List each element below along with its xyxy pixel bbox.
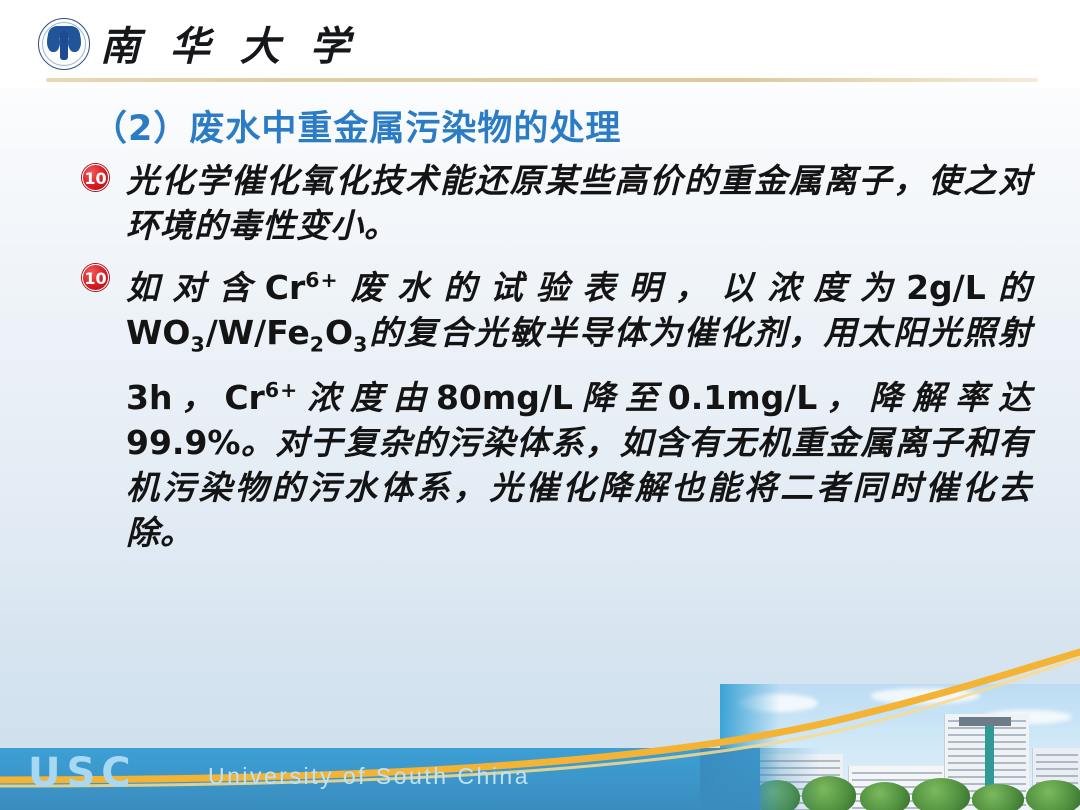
list-item: 10 如对含Cr6+废水的试验表明，以浓度为2g/L的WO3/W/Fe2O3的复… — [82, 258, 1032, 555]
bullet-marker-icon: 10 — [82, 164, 109, 191]
bullet-marker-icon: 10 — [82, 264, 109, 291]
seal-glyph — [47, 28, 81, 60]
bullet-text: 光化学催化氧化技术能还原某些高价的重金属离子，使之对环境的毒性变小。 — [126, 158, 1032, 248]
seal-glyph-stem — [60, 31, 68, 60]
page-title: （2）废水中重金属污染物的处理 — [92, 100, 621, 151]
slide-footer: USC University of South China — [0, 630, 1080, 810]
usc-logo: USC — [28, 750, 137, 796]
list-item: 10 光化学催化氧化技术能还原某些高价的重金属离子，使之对环境的毒性变小。 — [82, 158, 1032, 248]
university-name-cn: 南 华 大 学 — [100, 14, 358, 72]
bullet-text: 如对含Cr6+废水的试验表明，以浓度为2g/L的WO3/W/Fe2O3的复合光敏… — [126, 258, 1032, 555]
university-name-en: University of South China — [208, 763, 530, 790]
slide-body: 10 光化学催化氧化技术能还原某些高价的重金属离子，使之对环境的毒性变小。 10… — [82, 158, 1032, 565]
slide-header: 南 华 大 学 — [0, 0, 1080, 88]
header-divider — [46, 78, 1038, 82]
slide-canvas: 南 华 大 学 （2）废水中重金属污染物的处理 10 光化学催化氧化技术能还原某… — [0, 0, 1080, 810]
gold-swoosh-divider — [0, 630, 1080, 810]
university-seal-icon — [38, 18, 90, 70]
